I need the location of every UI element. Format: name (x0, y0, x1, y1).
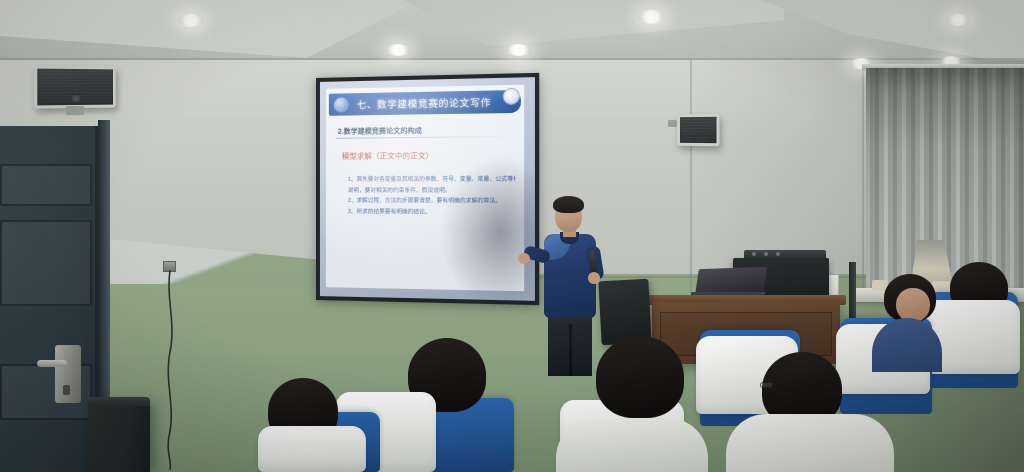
wall-vertical-strip (849, 262, 856, 320)
door-keyhole-icon (63, 385, 70, 395)
downlight-8 (946, 14, 970, 26)
speaker-driver-icon (71, 95, 81, 102)
av-knob-3 (776, 252, 780, 256)
speaker-bracket-left (66, 106, 84, 115)
door-panel-upper-mid (0, 220, 92, 306)
slide-subtitle: 2.数学建模竞赛论文的构成 (338, 126, 422, 137)
slide-bullet-item: 2、求解过程、方法的步骤要清楚，要有明确的求解的算法。 (348, 196, 516, 207)
door-handle-icon[interactable] (37, 360, 67, 367)
eyeglasses-icon (760, 382, 773, 388)
speaker-bracket-right (668, 120, 677, 127)
ceiling-coffer-center (404, 0, 784, 46)
entrance-door[interactable] (0, 126, 100, 472)
door-panel-top (0, 164, 92, 206)
slide-bullet-item: 说明，要对相关的约束条件、假设说明。 (348, 185, 516, 196)
av-knob-1 (752, 252, 756, 256)
audience-face-5 (896, 288, 930, 322)
headrest-cover-front-1 (258, 426, 366, 472)
downlight-1 (178, 14, 204, 27)
presenter-right-hand (588, 272, 600, 284)
lecture-hall-photo: 七、数学建模竞赛的论文写作 2.数学建模竞赛论文的构成 模型求解（正文中的正文）… (0, 0, 1024, 472)
presenter-leg-divide (569, 324, 572, 376)
presentation-slide: 七、数学建模竞赛的论文写作 2.数学建模竞赛论文的构成 模型求解（正文中的正文）… (326, 85, 524, 292)
presenter-left-hand (518, 253, 530, 264)
floor-speaker-top (88, 397, 150, 406)
audience-head-3 (596, 336, 684, 418)
speaker-grille (682, 119, 715, 141)
slide-bullet-item: 1、首先要对各变量及其相关的参数、符号、变量、常量、公式等作为 (348, 174, 516, 185)
projection-screen: 七、数学建模竞赛的论文写作 2.数学建模竞赛论文的构成 模型求解（正文中的正文）… (316, 73, 539, 305)
slide-bullet-item: 3、所求的结果要有明确的结论。 (348, 207, 516, 219)
wall-speaker-left (34, 65, 116, 108)
presenter-hair (553, 196, 584, 213)
downlight-4 (638, 10, 665, 24)
hanging-cable (140, 270, 230, 470)
ceiling-coffer-left (0, 0, 420, 58)
slide-title-bar: 七、数学建模竞赛的论文写作 (329, 90, 521, 116)
slide-bullet-list: 1、首先要对各变量及其相关的参数、符号、变量、常量、公式等作为 说明，要对相关的… (348, 174, 516, 218)
audience-shoulders-3 (556, 418, 708, 472)
downlight-2 (386, 44, 410, 56)
ceiling-coffer-right (760, 0, 1024, 66)
slide-logo-emblem (334, 97, 349, 112)
av-knob-2 (764, 252, 768, 256)
downlight-3 (506, 44, 531, 56)
audience-shoulders-4 (726, 414, 894, 472)
projection-screen-surface: 七、数学建模竞赛的论文写作 2.数学建模竞赛论文的构成 模型求解（正文中的正文）… (320, 77, 535, 301)
wall-speaker-right (677, 114, 719, 147)
slide-title: 七、数学建模竞赛的论文写作 (357, 95, 491, 112)
slide-red-heading: 模型求解（正文中的正文） (342, 150, 434, 162)
floor-standing-speaker (88, 402, 150, 472)
